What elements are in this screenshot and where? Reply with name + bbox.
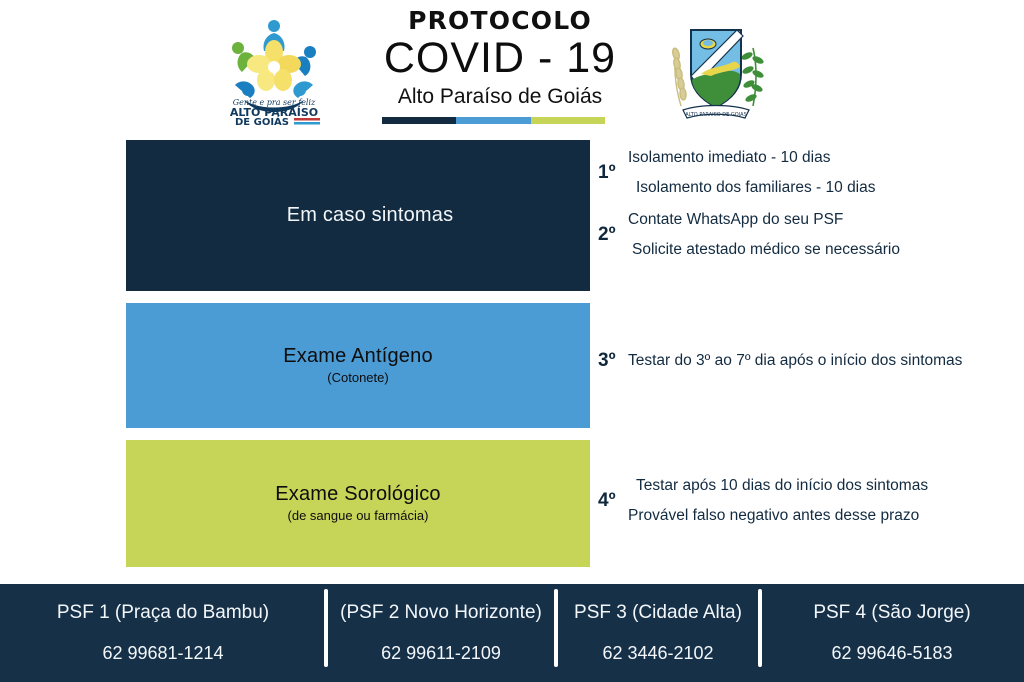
city-subtitle: Alto Paraíso de Goiás [340, 85, 660, 108]
step-box-serology-title: Exame Sorológico [275, 482, 441, 506]
step-1-line-2: Isolamento dos familiares - 10 dias [636, 180, 876, 196]
tricolor-segment-blue [456, 117, 530, 124]
coat-of-arms-banner-text: ALTO PARAISO DE GOIAS [685, 112, 747, 118]
step-note-2: 2º Contate WhatsApp do seu PSF Solicite … [598, 212, 900, 257]
step-number-4: 4º [598, 490, 628, 512]
step-box-antigen-subtitle: (Cotonete) [283, 370, 433, 387]
step-2-line-1: Contate WhatsApp do seu PSF [628, 212, 900, 228]
step-4-line-2: Provável falso negativo antes desse praz… [628, 508, 928, 524]
psf-unit-1: PSF 1 (Praça do Bambu) 62 99681-1214 [0, 584, 326, 682]
step-note-4: 4º Testar após 10 dias do início dos sin… [598, 478, 928, 523]
step-box-antigen-title: Exame Antígeno [283, 344, 433, 368]
step-box-antigen: Exame Antígeno (Cotonete) [126, 303, 590, 428]
step-text-4: Testar após 10 dias do início dos sintom… [628, 478, 928, 523]
city-logo-subtitle: DE GOIÁS [235, 115, 289, 126]
step-text-1: Isolamento imediato - 10 dias Isolamento… [628, 150, 876, 195]
step-text-2: Contate WhatsApp do seu PSF Solicite ate… [628, 212, 900, 257]
psf-unit-1-phone[interactable]: 62 99681-1214 [102, 644, 223, 664]
protocol-label: PROTOCOLO [340, 8, 660, 34]
psf-unit-2-phone[interactable]: 62 99611-2109 [381, 644, 501, 664]
psf-contact-footer: PSF 1 (Praça do Bambu) 62 99681-1214 (PS… [0, 584, 1024, 682]
step-4-line-1: Testar após 10 dias do início dos sintom… [636, 478, 928, 494]
poster-header: Gente e pra ser feliz ALTO PARAÍSO DE GO… [0, 0, 1024, 135]
psf-unit-3-phone[interactable]: 62 3446-2102 [602, 644, 713, 664]
step-number-3: 3º [598, 350, 628, 372]
step-box-symptoms-title: Em caso sintomas [287, 203, 454, 227]
step-box-serology-text: Exame Sorológico (de sangue ou farmácia) [275, 482, 441, 524]
step-1-line-1: Isolamento imediato - 10 dias [628, 150, 876, 166]
tricolor-divider [382, 117, 605, 124]
psf-unit-4-phone[interactable]: 62 99646-5183 [831, 644, 952, 664]
step-box-symptoms-text: Em caso sintomas [287, 203, 454, 227]
poster-title-block: PROTOCOLO COVID - 19 Alto Paraíso de Goi… [340, 8, 660, 108]
step-number-2: 2º [598, 224, 628, 246]
step-2-line-2: Solicite atestado médico se necessário [632, 242, 900, 258]
tricolor-segment-green [531, 117, 605, 124]
step-box-serology-subtitle: (de sangue ou farmácia) [275, 508, 441, 525]
step-box-serology: Exame Sorológico (de sangue ou farmácia) [126, 440, 590, 567]
step-note-1: 1º Isolamento imediato - 10 dias Isolame… [598, 150, 876, 195]
psf-unit-3: PSF 3 (Cidade Alta) 62 3446-2102 [556, 584, 760, 682]
step-number-1: 1º [598, 162, 628, 184]
psf-unit-4: PSF 4 (São Jorge) 62 99646-5183 [760, 584, 1024, 682]
municipal-coat-of-arms-icon: ALTO PARAISO DE GOIAS [661, 14, 771, 126]
psf-unit-3-name: PSF 3 (Cidade Alta) [574, 603, 742, 624]
psf-unit-1-name: PSF 1 (Praça do Bambu) [57, 603, 269, 624]
alto-paraiso-city-logo-icon: Gente e pra ser feliz ALTO PARAÍSO DE GO… [222, 12, 326, 126]
step-box-antigen-text: Exame Antígeno (Cotonete) [283, 344, 433, 386]
step-box-symptoms: Em caso sintomas [126, 140, 590, 291]
psf-unit-2: (PSF 2 Novo Horizonte) 62 99611-2109 [326, 584, 556, 682]
disease-title: COVID - 19 [340, 35, 660, 81]
psf-unit-4-name: PSF 4 (São Jorge) [813, 603, 970, 624]
step-text-3: Testar do 3º ao 7º dia após o início dos… [628, 353, 962, 369]
psf-unit-2-name: (PSF 2 Novo Horizonte) [340, 603, 542, 624]
step-note-3: 3º Testar do 3º ao 7º dia após o início … [598, 350, 962, 372]
tricolor-segment-navy [382, 117, 456, 124]
covid-protocol-poster: Gente e pra ser feliz ALTO PARAÍSO DE GO… [0, 0, 1024, 682]
step-3-line-1: Testar do 3º ao 7º dia após o início dos… [628, 353, 962, 369]
